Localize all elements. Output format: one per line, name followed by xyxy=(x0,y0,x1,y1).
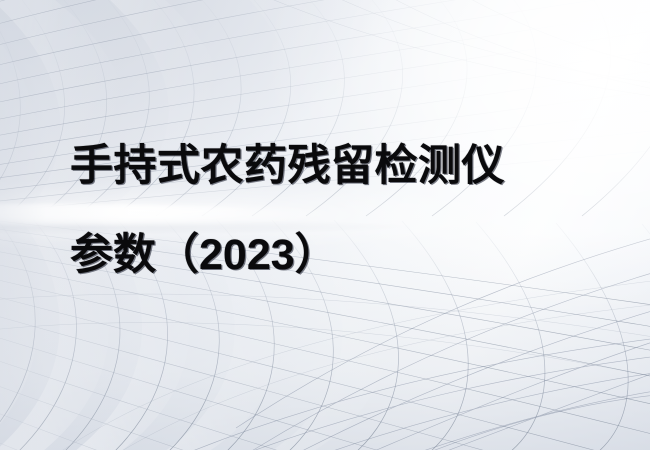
page-title: 手持式农药残留检测仪 参数（2023） xyxy=(70,122,610,300)
title-line-2: 参数（2023） xyxy=(70,211,610,300)
title-line-1: 手持式农药残留检测仪 xyxy=(70,122,610,211)
title-slide: 手持式农药残留检测仪 参数（2023） xyxy=(0,0,650,450)
